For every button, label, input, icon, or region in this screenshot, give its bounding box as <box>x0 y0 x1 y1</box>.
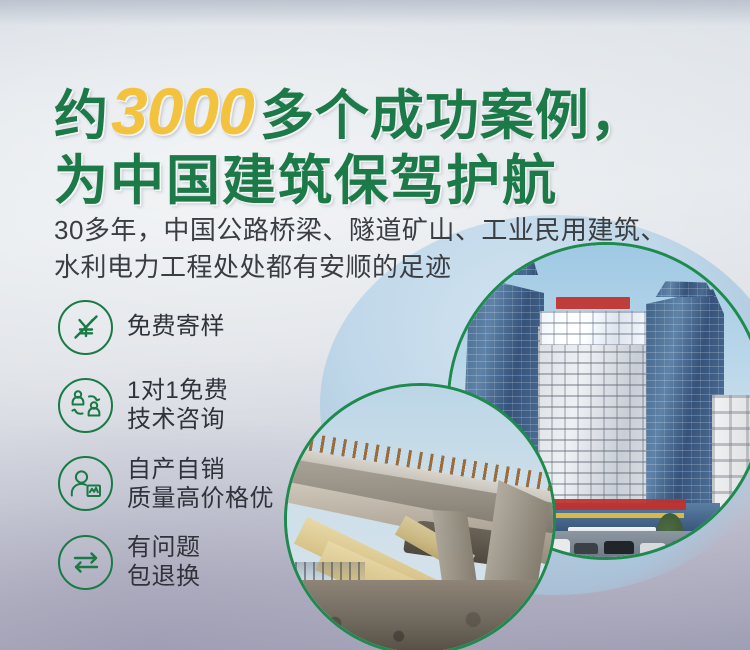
building-balcony-band <box>540 311 648 345</box>
building-parked-car <box>640 543 666 555</box>
feature-label-line-1: 有问题 <box>127 533 201 562</box>
building-podium-sign <box>546 499 686 510</box>
feature-label: 有问题 包退换 <box>127 533 201 592</box>
headline-line-1: 约3000多个成功案例， <box>54 78 714 144</box>
building-roof-sign <box>556 297 630 309</box>
two-person-exchange-icon <box>58 378 113 433</box>
feature-label-line-1: 1对1免费 <box>127 376 228 405</box>
feature-label-line-2: 质量高价格优 <box>127 484 274 513</box>
headline-block: 约3000多个成功案例， 为中国建筑保驾护航 <box>54 78 714 208</box>
no-fee-yen-icon <box>58 300 113 355</box>
feature-list: 免费寄样 <box>58 298 328 612</box>
feature-item-quality-price[interactable]: 自产自销 质量高价格优 <box>58 455 328 514</box>
headline-line-2: 为中国建筑保驾护航 <box>54 154 714 208</box>
return-exchange-arrows-icon <box>58 535 113 590</box>
feature-item-consultation[interactable]: 1对1免费 技术咨询 <box>58 376 328 435</box>
feature-label-line-1: 免费寄样 <box>127 313 225 340</box>
person-quality-chart-icon <box>58 456 113 511</box>
feature-label-line-2: 包退换 <box>127 562 201 591</box>
promo-banner: 约3000多个成功案例， 为中国建筑保驾护航 30多年，中国公路桥梁、隧道矿山、… <box>0 0 750 650</box>
feature-label-line-2: 技术咨询 <box>127 405 228 434</box>
feature-label: 自产自销 质量高价格优 <box>127 455 274 514</box>
headline-prefix: 约 <box>54 86 109 146</box>
background-top-shade <box>0 0 750 26</box>
headline-number: 3000 <box>109 74 260 148</box>
building-parked-car <box>672 541 700 554</box>
feature-label: 1对1免费 技术咨询 <box>127 376 228 435</box>
headline-suffix: 多个成功案例， <box>260 86 645 146</box>
building-parked-car <box>604 541 634 554</box>
feature-item-return-exchange[interactable]: 有问题 包退换 <box>58 533 328 592</box>
feature-label: 免费寄样 <box>127 312 225 341</box>
feature-item-free-sample[interactable]: 免费寄样 <box>58 298 328 356</box>
building-parked-car <box>574 543 598 554</box>
feature-label-line-1: 自产自销 <box>127 455 274 484</box>
